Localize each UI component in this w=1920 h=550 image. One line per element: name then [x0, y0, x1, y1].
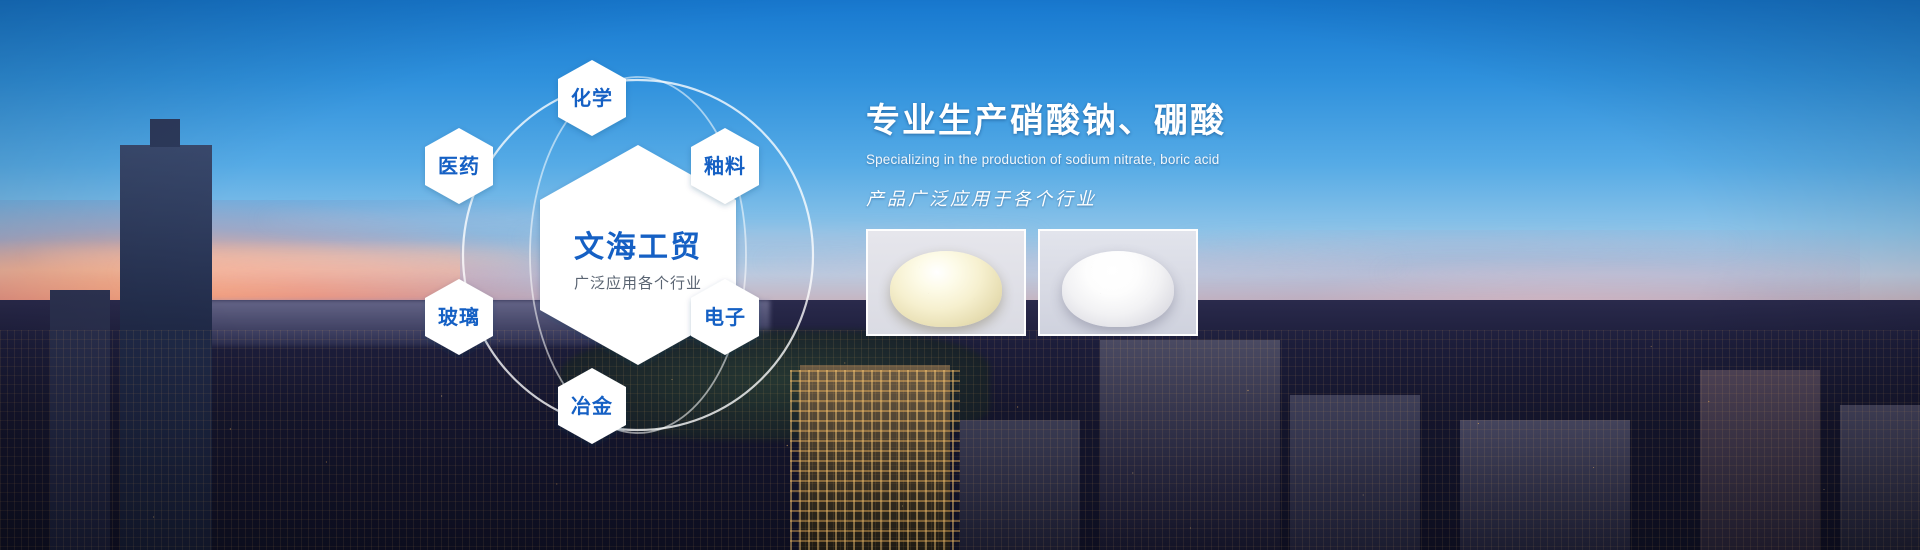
hex-node-bottom[interactable]: 冶金: [558, 368, 626, 444]
hex-node-top[interactable]: 化学: [558, 60, 626, 136]
product-photo-sodium-nitrate: [866, 229, 1026, 336]
product-photo-boric-acid: [1038, 229, 1198, 336]
hex-node-lower-left[interactable]: 玻璃: [425, 279, 493, 355]
center-title: 文海工贸: [574, 230, 702, 264]
center-subtitle: 广泛应用各个行业: [574, 274, 702, 292]
subheadline: Specializing in the production of sodium…: [866, 152, 1486, 167]
hex-node-label: 化学: [571, 86, 613, 110]
hex-node-upper-left[interactable]: 医药: [425, 128, 493, 204]
product-photo-row: [866, 229, 1198, 336]
powder-heap: [890, 251, 1002, 327]
hex-node-label: 玻璃: [438, 305, 480, 329]
hex-node-label: 冶金: [571, 394, 613, 418]
headline: 专业生产硝酸钠、硼酸: [866, 100, 1486, 143]
hex-diagram: 文海工贸 广泛应用各个行业 化学 釉料 电子 冶金 玻璃: [420, 20, 860, 490]
powder-heap: [1062, 251, 1174, 327]
copy-block: 专业生产硝酸钠、硼酸 Specializing in the productio…: [866, 100, 1486, 211]
hex-node-label: 电子: [704, 306, 746, 329]
hex-node-label: 医药: [438, 154, 480, 178]
hex-node-label: 釉料: [704, 154, 746, 178]
promo-banner: 文海工贸 广泛应用各个行业 化学 釉料 电子 冶金 玻璃: [0, 0, 1920, 550]
tagline: 产品广泛应用于各个行业: [866, 185, 1486, 211]
